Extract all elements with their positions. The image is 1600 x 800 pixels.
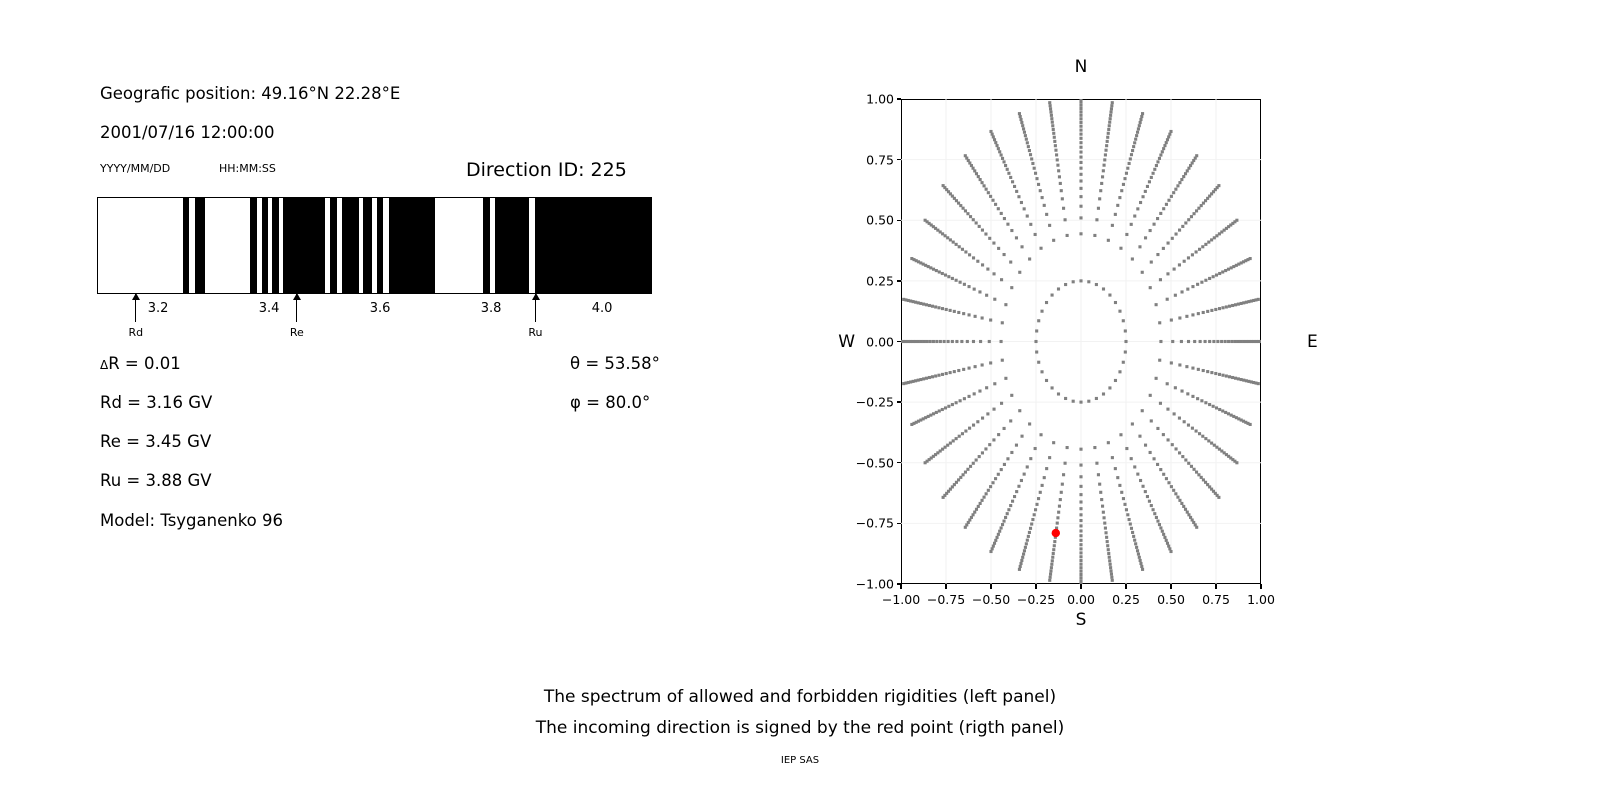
rigidity-spectrum-chart	[97, 197, 652, 294]
forbidden-band	[195, 198, 204, 293]
forbidden-band	[342, 198, 359, 293]
polar-xtick-mark	[1080, 584, 1081, 589]
spectrum-xtick-label: 3.8	[481, 301, 502, 316]
compass-label-north: N	[1075, 57, 1088, 77]
polar-scatter-chart: N S W E −1.00−0.75−0.50−0.250.000.250.50…	[901, 99, 1261, 584]
forbidden-band	[183, 198, 190, 293]
delta-r-value: ΔR = 0.01	[100, 354, 181, 373]
forbidden-band	[389, 198, 435, 293]
date-format-hint: YYYY/MM/DD	[100, 162, 170, 175]
rigidity-spectrum-panel: Geografic position: 49.16°N 22.28°E 2001…	[0, 0, 760, 660]
model-name: Model: Tsyganenko 96	[100, 511, 283, 530]
geographic-position-label: Geografic position: 49.16°N 22.28°E	[100, 84, 400, 103]
polar-xtick-label: 0.50	[1157, 592, 1185, 607]
polar-ytick-mark	[897, 523, 902, 524]
forbidden-band	[262, 198, 269, 293]
forbidden-band	[483, 198, 490, 293]
polar-xtick-label: 0.75	[1202, 592, 1230, 607]
forbidden-band	[330, 198, 338, 293]
polar-ytick-label: −0.50	[856, 455, 894, 470]
polar-xtick-label: −1.00	[882, 592, 920, 607]
marker-label-rd: Rd	[129, 326, 144, 339]
polar-xtick-mark	[1125, 584, 1126, 589]
direction-id-label: Direction ID: 225	[466, 159, 627, 181]
polar-xtick-label: −0.25	[1017, 592, 1055, 607]
ru-value: Ru = 3.88 GV	[100, 471, 212, 490]
polar-ytick-label: −1.00	[856, 577, 894, 592]
delta-symbol: Δ	[100, 358, 108, 372]
polar-xtick-mark	[1170, 584, 1171, 589]
polar-xtick-label: 1.00	[1247, 592, 1275, 607]
marker-arrow-rd	[135, 294, 136, 322]
polar-xtick-label: 0.25	[1112, 592, 1140, 607]
datetime-label: 2001/07/16 12:00:00	[100, 123, 274, 142]
forbidden-band	[250, 198, 257, 293]
re-value: Re = 3.45 GV	[100, 432, 211, 451]
forbidden-band	[363, 198, 371, 293]
marker-label-ru: Ru	[528, 326, 542, 339]
caption-line-2: The incoming direction is signed by the …	[0, 718, 1600, 738]
polar-ytick-mark	[897, 98, 902, 99]
caption-line-1: The spectrum of allowed and forbidden ri…	[0, 687, 1600, 707]
spectrum-xtick-label: 3.2	[148, 301, 169, 316]
forbidden-band	[377, 198, 384, 293]
polar-ytick-mark	[897, 280, 902, 281]
forbidden-band	[283, 198, 324, 293]
spectrum-xtick-label: 3.6	[370, 301, 391, 316]
incoming-direction-marker	[1052, 529, 1060, 537]
polar-xtick-label: 0.00	[1067, 592, 1095, 607]
polar-ytick-label: 0.50	[866, 213, 894, 228]
forbidden-band	[272, 198, 279, 293]
theta-value: θ = 53.58°	[570, 354, 660, 373]
footer-label: IEP SAS	[0, 755, 1600, 766]
polar-xtick-label: −0.50	[972, 592, 1010, 607]
polar-ytick-label: −0.25	[856, 395, 894, 410]
polar-xtick-label: −0.75	[927, 592, 965, 607]
polar-ytick-mark	[897, 220, 902, 221]
polar-ytick-mark	[897, 462, 902, 463]
polar-xtick-mark	[1215, 584, 1216, 589]
rd-value: Rd = 3.16 GV	[100, 393, 212, 412]
polar-ytick-label: 0.00	[866, 334, 894, 349]
polar-xtick-mark	[945, 584, 946, 589]
delta-r-text: R = 0.01	[108, 354, 181, 373]
forbidden-band	[495, 198, 529, 293]
polar-xtick-mark	[1035, 584, 1036, 589]
polar-scatter-points	[901, 99, 1261, 584]
polar-ytick-mark	[897, 159, 902, 160]
polar-xtick-mark	[1260, 584, 1261, 589]
marker-arrow-re	[296, 294, 297, 322]
incoming-direction-panel: N S W E −1.00−0.75−0.50−0.250.000.250.50…	[800, 0, 1600, 660]
compass-label-west: W	[838, 332, 855, 352]
forbidden-band	[535, 198, 651, 293]
spectrum-bar	[97, 197, 652, 294]
spectrum-xtick-label: 3.4	[259, 301, 280, 316]
polar-ytick-label: −0.75	[856, 516, 894, 531]
polar-xtick-mark	[990, 584, 991, 589]
polar-ytick-mark	[897, 401, 902, 402]
polar-ytick-mark	[897, 341, 902, 342]
polar-ytick-label: 0.75	[866, 152, 894, 167]
polar-xtick-mark	[900, 584, 901, 589]
phi-value: φ = 80.0°	[570, 393, 650, 412]
spectrum-xtick-label: 4.0	[592, 301, 613, 316]
marker-arrow-ru	[535, 294, 536, 322]
polar-ytick-label: 0.25	[866, 273, 894, 288]
compass-label-east: E	[1307, 332, 1318, 352]
time-format-hint: HH:MM:SS	[219, 162, 276, 175]
marker-label-re: Re	[290, 326, 304, 339]
polar-ytick-label: 1.00	[866, 92, 894, 107]
compass-label-south: S	[1076, 610, 1087, 630]
